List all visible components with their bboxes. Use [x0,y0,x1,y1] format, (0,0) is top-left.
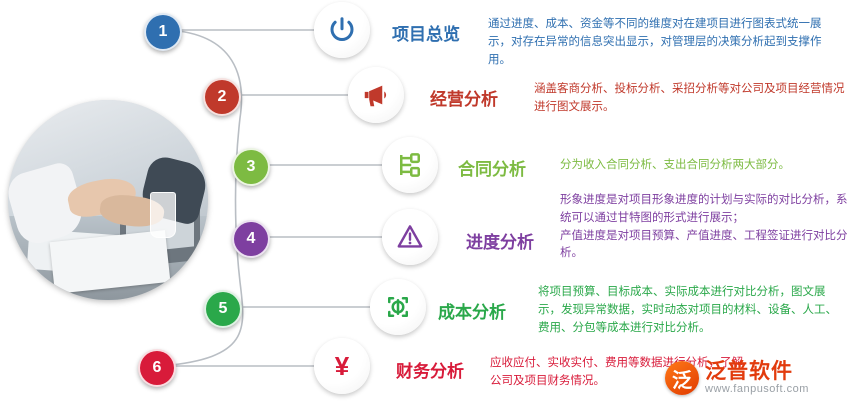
row-desc-1: 通过进度、成本、资金等不同的维度对在建项目进行图表式统一展示，对存在异常的信息突… [488,16,844,69]
row-title-6: 财务分析 [396,357,464,382]
row-title-3: 合同分析 [458,155,526,180]
step-number-2: 2 [203,78,241,116]
diagram-stage: 1 项目总览 通过进度、成本、资金等不同的维度对在建项目进行图表式统一展示，对存… [0,0,859,407]
row-title-4: 进度分析 [466,228,534,253]
cost-target-icon-circle[interactable] [370,279,426,335]
power-icon-circle[interactable] [314,2,370,58]
step-number-4-label: 4 [247,230,256,248]
step-number-3-label: 3 [247,158,256,176]
yuan-currency-icon-circle[interactable]: ¥ [314,338,370,394]
step-number-2-label: 2 [218,88,227,106]
row-desc-2: 涵盖客商分析、投标分析、采招分析等对公司及项目经营情况进行图文展示。 [534,81,852,117]
step-number-5-label: 5 [219,300,228,318]
brand-url: www.fanpusoft.com [705,383,809,395]
row-desc-4: 形象进度是对项目形象进度的计划与实际的对比分析，系统可以通过甘特图的形式进行展示… [560,192,852,263]
yuan-currency-icon: ¥ [335,353,349,379]
row-title-2: 经营分析 [430,85,498,110]
warning-triangle-icon-circle[interactable] [382,209,438,265]
brand-name: 泛普软件 [705,361,809,383]
step-number-5: 5 [204,290,242,328]
row-desc-5: 将项目预算、目标成本、实际成本进行对比分析，图文展示，发现异常数据，实时动态对项… [538,284,848,337]
step-number-4: 4 [232,220,270,258]
brand-text: 泛普软件 www.fanpusoft.com [705,361,809,395]
row-title-1: 项目总览 [392,20,460,45]
megaphone-icon-circle[interactable] [348,67,404,123]
contract-icon-circle[interactable] [382,137,438,193]
step-number-1: 1 [144,13,182,51]
step-number-3: 3 [232,148,270,186]
power-icon [327,15,357,45]
cost-target-icon [383,292,413,322]
brand-badge-icon: 泛 [665,361,699,395]
row-desc-3: 分为收入合同分析、支出合同分析两大部分。 [560,157,850,175]
contract-icon [395,150,425,180]
row-title-5: 成本分析 [438,298,506,323]
step-number-6-label: 6 [153,359,162,377]
brand-symbol: 泛 [672,364,692,393]
step-number-1-label: 1 [159,23,168,41]
brand-logo[interactable]: 泛 泛普软件 www.fanpusoft.com [665,355,851,401]
megaphone-icon [361,80,391,110]
warning-triangle-icon [395,222,425,252]
step-number-6: 6 [138,349,176,387]
